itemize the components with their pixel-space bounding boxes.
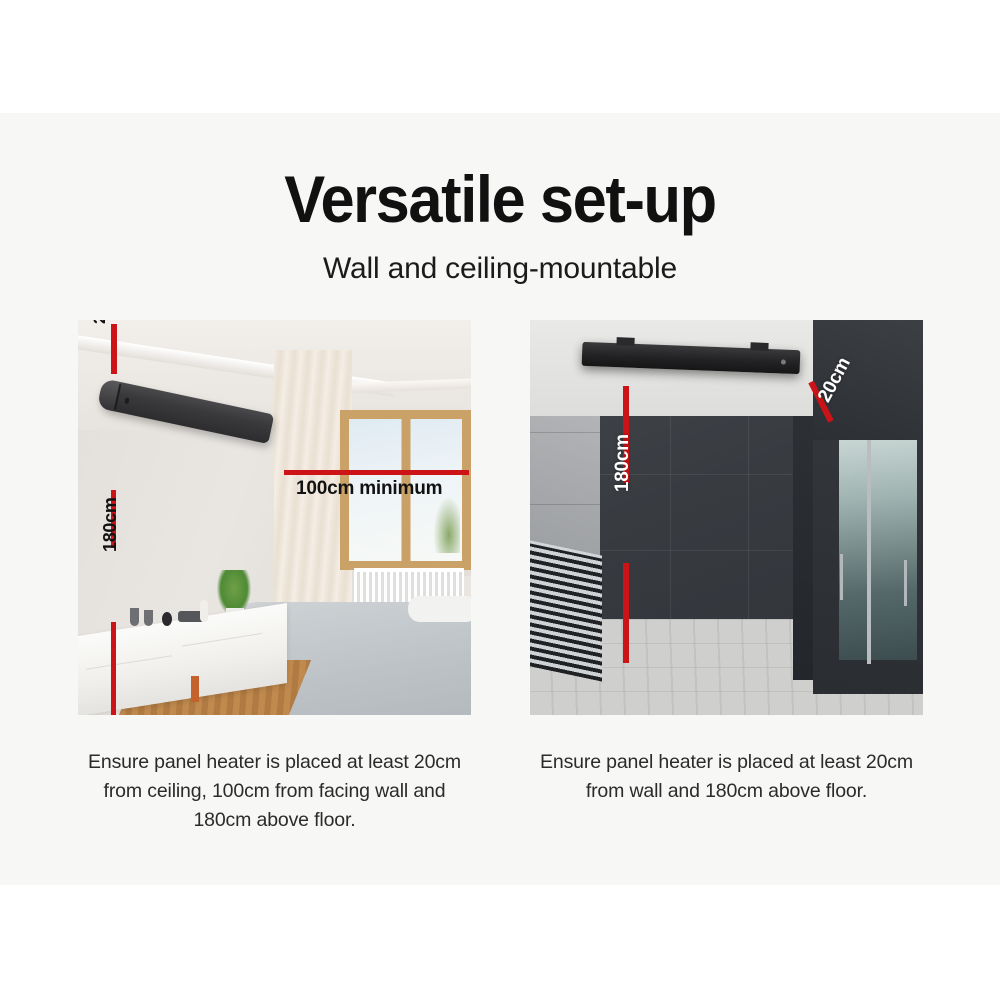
balcony-railing xyxy=(530,540,602,681)
decor-bottle xyxy=(200,600,208,622)
product-feature-slide: Versatile set-up Wall and ceiling-mounta… xyxy=(0,0,1000,1000)
decor-sphere xyxy=(162,612,172,626)
dimension-line-180cm-lower xyxy=(623,563,629,663)
dimension-label-180cm-floor: 180cm xyxy=(612,434,634,492)
sliding-glass-door xyxy=(813,404,923,694)
window-plant xyxy=(432,493,460,553)
decor-goblet-1 xyxy=(130,608,139,626)
dimension-line-180cm-lower xyxy=(111,622,116,715)
heater-indicator xyxy=(124,397,129,404)
page-subtitle: Wall and ceiling-mountable xyxy=(0,250,1000,288)
door-divider xyxy=(867,424,871,664)
dimension-label-100cm-minimum: 100cm minimum xyxy=(296,478,442,500)
dimension-line-20cm-ceiling xyxy=(111,324,117,374)
dimension-label-20cm-ceiling: 20cm xyxy=(90,320,110,324)
sideboard-drawer-right xyxy=(182,633,262,674)
panel-wall-mount: 20cm 180cm 100cm minimum xyxy=(78,320,471,715)
decor-goblet-2 xyxy=(144,610,153,626)
page-title: Versatile set-up xyxy=(35,163,965,235)
sideboard-drawer-left xyxy=(86,655,172,697)
heater-indicator xyxy=(781,359,786,364)
door-handle-right xyxy=(904,560,907,606)
photo-balcony-ceiling-mount: 180cm 20cm xyxy=(530,320,923,715)
panel-ceiling-mount: 180cm 20cm xyxy=(530,320,923,715)
heater-bracket-left xyxy=(616,337,634,346)
heater-bracket-right xyxy=(750,342,768,351)
dimension-line-100cm-facing-wall xyxy=(284,470,469,475)
dimension-label-180cm-floor: 180cm xyxy=(100,497,121,552)
door-glass-pane xyxy=(839,430,917,660)
door-handle-left xyxy=(840,554,843,600)
caption-wall-mount: Ensure panel heater is placed at least 2… xyxy=(78,748,471,835)
photo-bedroom-wall-mount: 20cm 180cm 100cm minimum xyxy=(78,320,471,715)
pillow xyxy=(408,596,471,622)
caption-ceiling-mount: Ensure panel heater is placed at least 2… xyxy=(530,748,923,806)
table-leg xyxy=(191,676,199,702)
